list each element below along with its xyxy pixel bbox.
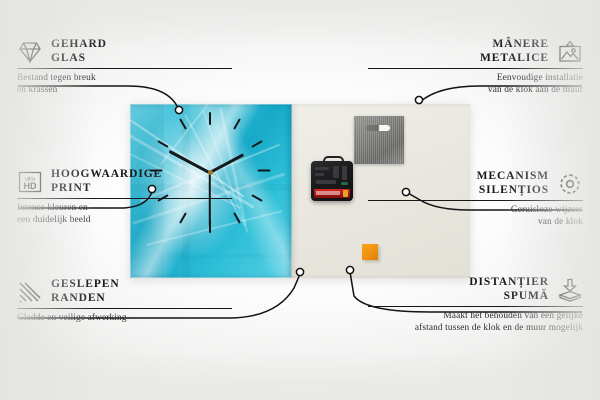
callout-gehard-glas: GEHARD GLAS Bestand tegen breuk en krass…	[17, 38, 232, 96]
callout-subtitle-line1: Maakt het behouden van een gelijke	[443, 311, 583, 321]
orange-foam-spacer	[362, 244, 378, 260]
spacer-pad-icon	[557, 278, 583, 302]
callout-subtitle-line1: Bestand tegen breuk	[17, 73, 96, 83]
quartz-movement-mechanism	[311, 161, 353, 201]
callout-title-line1: HOOGWAARDIGE	[51, 168, 162, 180]
callout-distantier-spuma: DISTANȚIER SPUMĂ Maakt het behouden van …	[368, 276, 583, 334]
callout-subtitle-line2: en krassen	[17, 85, 57, 95]
callout-mecanism-silentios: MECANISM SILENȚIOS Geruisloze wijzers va…	[368, 170, 583, 228]
callout-title-line2: GLAS	[51, 52, 86, 64]
callout-subtitle-line2: van de klok	[538, 217, 583, 227]
callout-divider	[368, 200, 583, 201]
callout-title-line1: GEHARD	[51, 38, 107, 50]
callout-divider	[368, 68, 583, 69]
callout-title-line2: SILENȚIOS	[479, 184, 549, 196]
callout-geslepen-randen: GESLEPEN RANDEN Gladde en veilige afwerk…	[17, 278, 232, 324]
callout-title-line1: DISTANȚIER	[469, 276, 549, 288]
callout-title-line1: MÂNERE	[492, 38, 549, 50]
svg-text:HD: HD	[24, 181, 37, 191]
mechanism-hanger-loop	[323, 156, 344, 166]
battery-terminal	[343, 190, 348, 197]
battery-label	[316, 191, 340, 195]
callout-title-line2: RANDEN	[51, 292, 106, 304]
callout-divider	[17, 68, 232, 69]
beveled-edge-icon	[17, 280, 43, 304]
picture-frame-icon	[557, 40, 583, 64]
callout-hoogwaardige-print: ultra HD HOOGWAARDIGE PRINT Intense kleu…	[17, 168, 232, 226]
callout-manere-metalice: MÂNERE METALICE Eenvoudige installatie v…	[368, 38, 583, 96]
metal-hanger-plate	[354, 116, 404, 164]
callout-subtitle-line2: een duidelijk beeld	[17, 215, 91, 225]
callout-subtitle-line1: Eenvoudige installatie	[497, 73, 583, 83]
callout-title-line2: PRINT	[51, 182, 91, 194]
leader-endpoint-manere-metalice	[415, 96, 422, 103]
callout-title-line2: SPUMĂ	[504, 290, 549, 302]
callout-divider	[17, 198, 232, 199]
ultra-hd-icon: ultra HD	[17, 170, 43, 194]
infographic-canvas: GEHARD GLAS Bestand tegen breuk en krass…	[0, 0, 600, 400]
callout-subtitle-line1: Gladde en veilige afwerking	[17, 313, 127, 323]
aa-battery	[314, 189, 350, 198]
callout-divider	[368, 306, 583, 307]
callout-divider	[17, 308, 232, 309]
callout-title-line2: METALICE	[480, 52, 549, 64]
callout-subtitle-line2: van de klok aan de muur	[488, 85, 583, 95]
callout-title-line1: MECANISM	[477, 170, 549, 182]
callout-subtitle-line1: Intense kleuren en	[17, 203, 88, 213]
callout-subtitle-line1: Geruisloze wijzers	[511, 205, 583, 215]
diamond-icon	[17, 40, 43, 64]
callout-title-line1: GESLEPEN	[51, 278, 120, 290]
gear-icon	[557, 172, 583, 196]
callout-subtitle-line2: afstand tussen de klok en de muur mogeli…	[415, 323, 583, 333]
hanger-slot	[366, 125, 390, 131]
